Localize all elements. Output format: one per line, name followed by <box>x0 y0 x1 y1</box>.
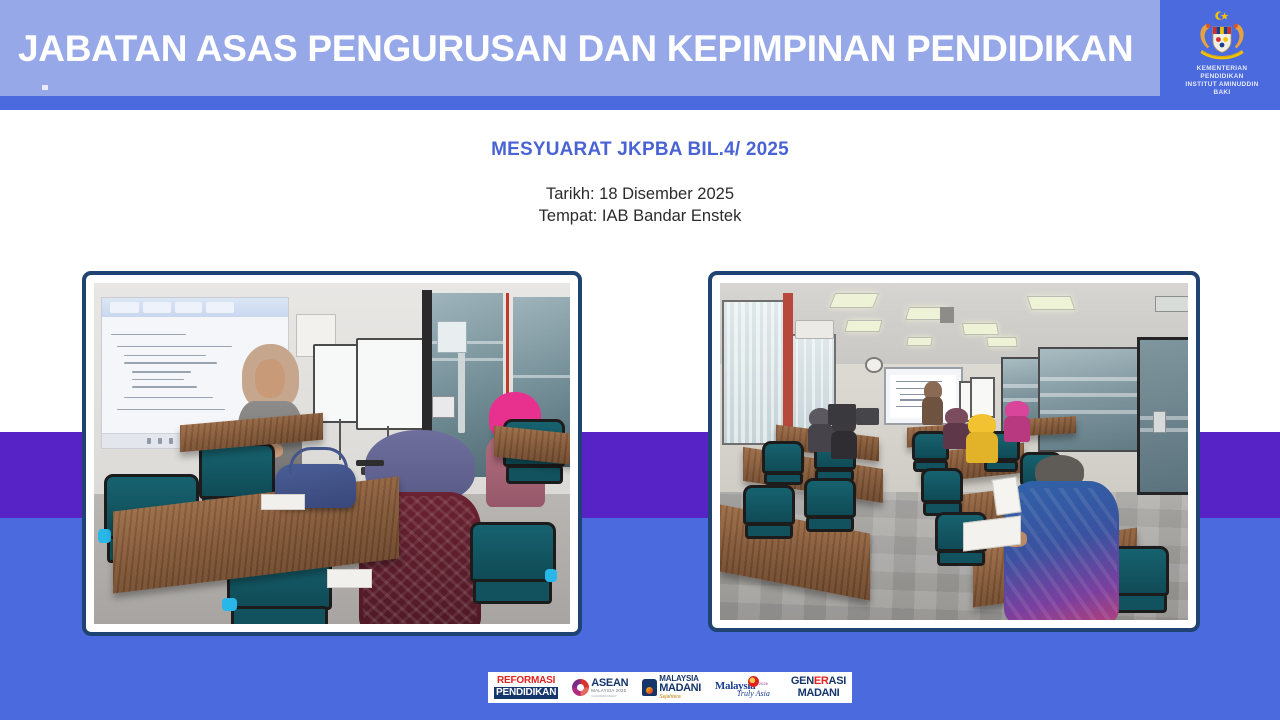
meeting-venue: Tempat: IAB Bandar Enstek <box>539 207 742 225</box>
presenter-body <box>922 397 943 425</box>
generasi-line2: MADANI <box>798 688 840 699</box>
whiteboard <box>970 377 995 418</box>
batik-pattern <box>1006 488 1117 620</box>
chair <box>762 441 804 485</box>
document-text-line <box>124 397 213 399</box>
participant-person <box>968 414 996 461</box>
handbag-strap <box>289 447 347 474</box>
taskbar-icon <box>169 438 173 444</box>
glass-frosted-stripe <box>432 358 503 361</box>
chair <box>921 468 963 515</box>
document-text-line <box>117 346 232 348</box>
malaysia-truly-asia-logo: Malaysia Truly Asia 2026 <box>715 675 777 701</box>
paper-sheet <box>261 494 306 510</box>
photo-frame-right <box>708 271 1200 632</box>
browser-tab <box>143 302 171 313</box>
participant-person <box>1010 455 1113 620</box>
ceiling-light <box>986 337 1017 347</box>
hibiscus-icon <box>748 676 759 687</box>
reformasi-line1: REFORMASI <box>497 676 555 686</box>
ceiling-light <box>829 293 879 308</box>
page-title: JABATAN ASAS PENGURUSAN DAN KEPIMPINAN P… <box>18 24 1148 74</box>
meeting-title: MESYUARAT JKPBA BIL.4/ 2025 <box>0 139 1280 161</box>
presentation-slide: JABATAN ASAS PENGURUSAN DAN KEPIMPINAN P… <box>0 0 1280 720</box>
air-conditioner <box>795 320 834 339</box>
asean-line3: CHAIRMANSHIP <box>591 694 628 698</box>
phone <box>356 460 385 465</box>
ceiling-light <box>907 337 934 346</box>
institution-logo-text: KEMENTERIAN PENDIDIKAN INSTITUT AMINUDDI… <box>1176 65 1268 97</box>
flipchart-board <box>356 338 424 431</box>
generasi-madani-logo: GENERASI MADANI <box>791 675 846 701</box>
reformasi-pendidikan-logo: REFORMASI PENDIDIKAN <box>494 675 558 701</box>
door-keypad <box>1153 411 1166 433</box>
ceiling-light <box>1027 296 1076 310</box>
footer-logo-strip: REFORMASI PENDIDIKAN ASEAN MALAYSIA 2025… <box>488 672 852 703</box>
document-text-line <box>117 409 225 411</box>
asean-swirl-icon <box>572 679 589 696</box>
document-text-line <box>132 386 197 388</box>
document-text-line <box>111 334 185 336</box>
document-text-line <box>124 355 206 357</box>
institution-logo-line2: INSTITUT AMINUDDIN BAKI <box>1185 81 1258 96</box>
ceiling-light <box>845 320 883 332</box>
malaysia-coat-of-arms-icon <box>1193 10 1251 62</box>
wall-notice <box>437 321 468 354</box>
browser-tab <box>206 302 234 313</box>
malaysia-madani-logo: MALAYSIA MADANI Sejahtera <box>642 675 701 701</box>
asean-line2: MALAYSIA 2025 <box>591 688 628 694</box>
taskbar-icon <box>158 438 162 444</box>
chair <box>470 522 556 604</box>
truly-line2: Truly Asia <box>737 689 770 698</box>
participant-person <box>945 408 968 448</box>
wall-clock <box>865 357 883 372</box>
madani-line2: MADANI <box>659 683 701 694</box>
notebook <box>327 569 372 588</box>
truly-line3: 2026 <box>759 681 768 686</box>
paper-sheet <box>991 477 1021 516</box>
browser-tab <box>175 302 203 313</box>
photo-right <box>720 283 1188 620</box>
taskbar-icon <box>147 438 151 444</box>
institution-logo: KEMENTERIAN PENDIDIKAN INSTITUT AMINUDDI… <box>1176 10 1268 94</box>
monitor <box>828 404 856 424</box>
generasi-line1: GENERASI <box>791 676 846 687</box>
madani-mark-icon <box>642 679 657 696</box>
glass-frosted-stripe <box>513 375 570 378</box>
institution-logo-line1: KEMENTERIAN PENDIDIKAN <box>1197 65 1248 80</box>
header-artifact-dot <box>42 85 48 90</box>
photo-frame-left <box>82 271 582 636</box>
projector-mount <box>940 307 954 324</box>
asean-line1: ASEAN <box>591 678 628 688</box>
browser-tab <box>110 302 140 313</box>
document-text-line <box>132 371 191 373</box>
document-text-line <box>124 362 217 364</box>
asean-malaysia-2025-logo: ASEAN MALAYSIA 2025 CHAIRMANSHIP <box>572 675 628 701</box>
reformasi-line2: PENDIDIKAN <box>494 687 558 699</box>
chair <box>804 478 855 532</box>
meeting-details: Tarikh: 18 Disember 2025 Tempat: IAB Ban… <box>0 183 1280 227</box>
glass-partition <box>1038 347 1140 452</box>
presenter-person <box>924 381 943 425</box>
monitor <box>856 408 879 425</box>
photo-left <box>94 283 570 624</box>
participant-person <box>1005 401 1028 441</box>
meeting-date: Tarikh: 18 Disember 2025 <box>546 185 734 203</box>
window <box>722 300 787 446</box>
madani-line3: Sejahtera <box>659 694 701 700</box>
exit-sign <box>1155 296 1188 311</box>
document-text-line <box>132 379 184 381</box>
tablet-device <box>432 396 455 418</box>
presenter-face <box>255 359 285 398</box>
chair <box>743 485 794 539</box>
ceiling-light <box>962 323 999 335</box>
